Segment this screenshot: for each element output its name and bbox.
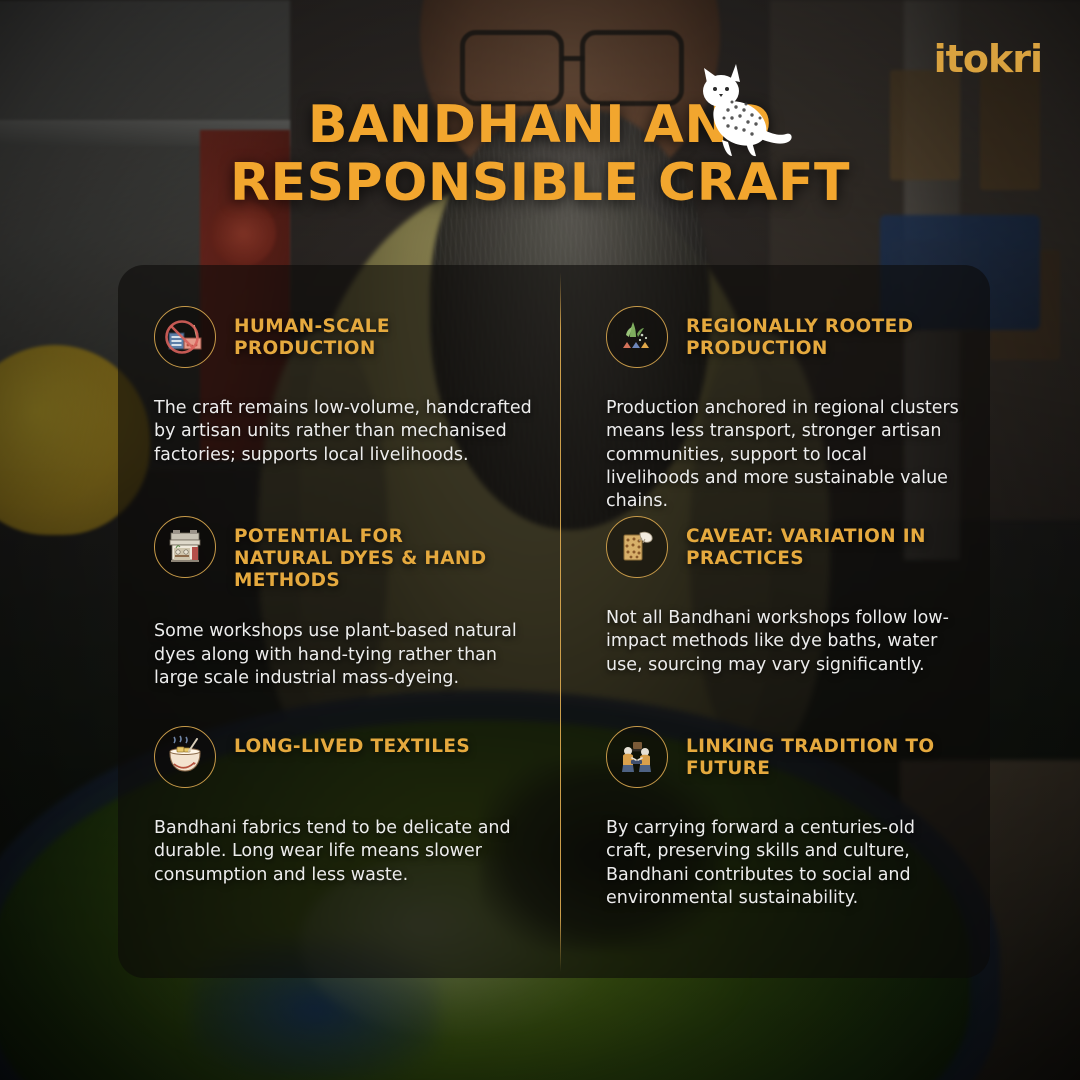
card-body: Bandhani fabrics tend to be delicate and… — [154, 817, 538, 887]
card-title: POTENTIAL FOR NATURAL DYES & HAND METHOD… — [234, 516, 504, 591]
no-factory-icon — [154, 306, 216, 368]
two-artisans-working-icon — [606, 726, 668, 788]
page-title: BANDHANI AND RESPONSIBLE CRAFT — [0, 96, 1080, 212]
bandhani-cat-icon — [688, 58, 800, 162]
brand-logo-text: itokri — [934, 40, 1042, 78]
page-title-line-2: RESPONSIBLE CRAFT — [120, 154, 960, 212]
card-body: Some workshops use plant-based natural d… — [154, 620, 538, 690]
card-header: LINKING TRADITION TO FUTURE — [606, 726, 964, 788]
card-title: REGIONALLY ROOTED PRODUCTION — [686, 306, 964, 360]
seedlings-dye-mounds-icon — [606, 306, 668, 368]
page-title-line-1: BANDHANI AND — [120, 96, 960, 154]
card-title: HUMAN-SCALE PRODUCTION — [234, 306, 504, 360]
brand-logo-itokri[interactable]: itokri — [934, 40, 1042, 78]
infographic-canvas: itokri BANDHANI AND RESPONSIBLE CRAFT — [0, 0, 1080, 1080]
card-body: The craft remains low-volume, handcrafte… — [154, 397, 538, 467]
card-linking-tradition-to-future: LINKING TRADITION TO FUTURE By carrying … — [560, 685, 990, 978]
card-title: LINKING TRADITION TO FUTURE — [686, 726, 964, 780]
card-natural-dyes-hand-methods: POTENTIAL FOR NATURAL DYES & HAND METHOD… — [118, 475, 560, 685]
card-caveat-variation-in-practices: CAVEAT: VARIATION IN PRACTICES Not all B… — [560, 475, 990, 685]
card-human-scale-production: HUMAN-SCALE PRODUCTION The craft remains… — [118, 265, 560, 475]
card-body: Not all Bandhani workshops follow low-im… — [606, 607, 964, 677]
card-header: POTENTIAL FOR NATURAL DYES & HAND METHOD… — [154, 516, 538, 591]
card-header: CAVEAT: VARIATION IN PRACTICES — [606, 516, 964, 578]
artisan-workshop-building-icon — [154, 516, 216, 578]
card-title: LONG-LIVED TEXTILES — [234, 726, 470, 758]
card-long-lived-textiles: LONG-LIVED TEXTILES Bandhani fabrics ten… — [118, 685, 560, 978]
hand-holding-bandhani-fabric-icon — [606, 516, 668, 578]
steaming-dye-pot-icon — [154, 726, 216, 788]
benefits-grid: HUMAN-SCALE PRODUCTION The craft remains… — [118, 265, 990, 978]
card-header: REGIONALLY ROOTED PRODUCTION — [606, 306, 964, 368]
card-regionally-rooted-production: REGIONALLY ROOTED PRODUCTION Production … — [560, 265, 990, 475]
card-header: HUMAN-SCALE PRODUCTION — [154, 306, 538, 368]
card-title: CAVEAT: VARIATION IN PRACTICES — [686, 516, 964, 570]
card-body: By carrying forward a centuries-old craf… — [606, 817, 964, 910]
card-header: LONG-LIVED TEXTILES — [154, 726, 538, 788]
